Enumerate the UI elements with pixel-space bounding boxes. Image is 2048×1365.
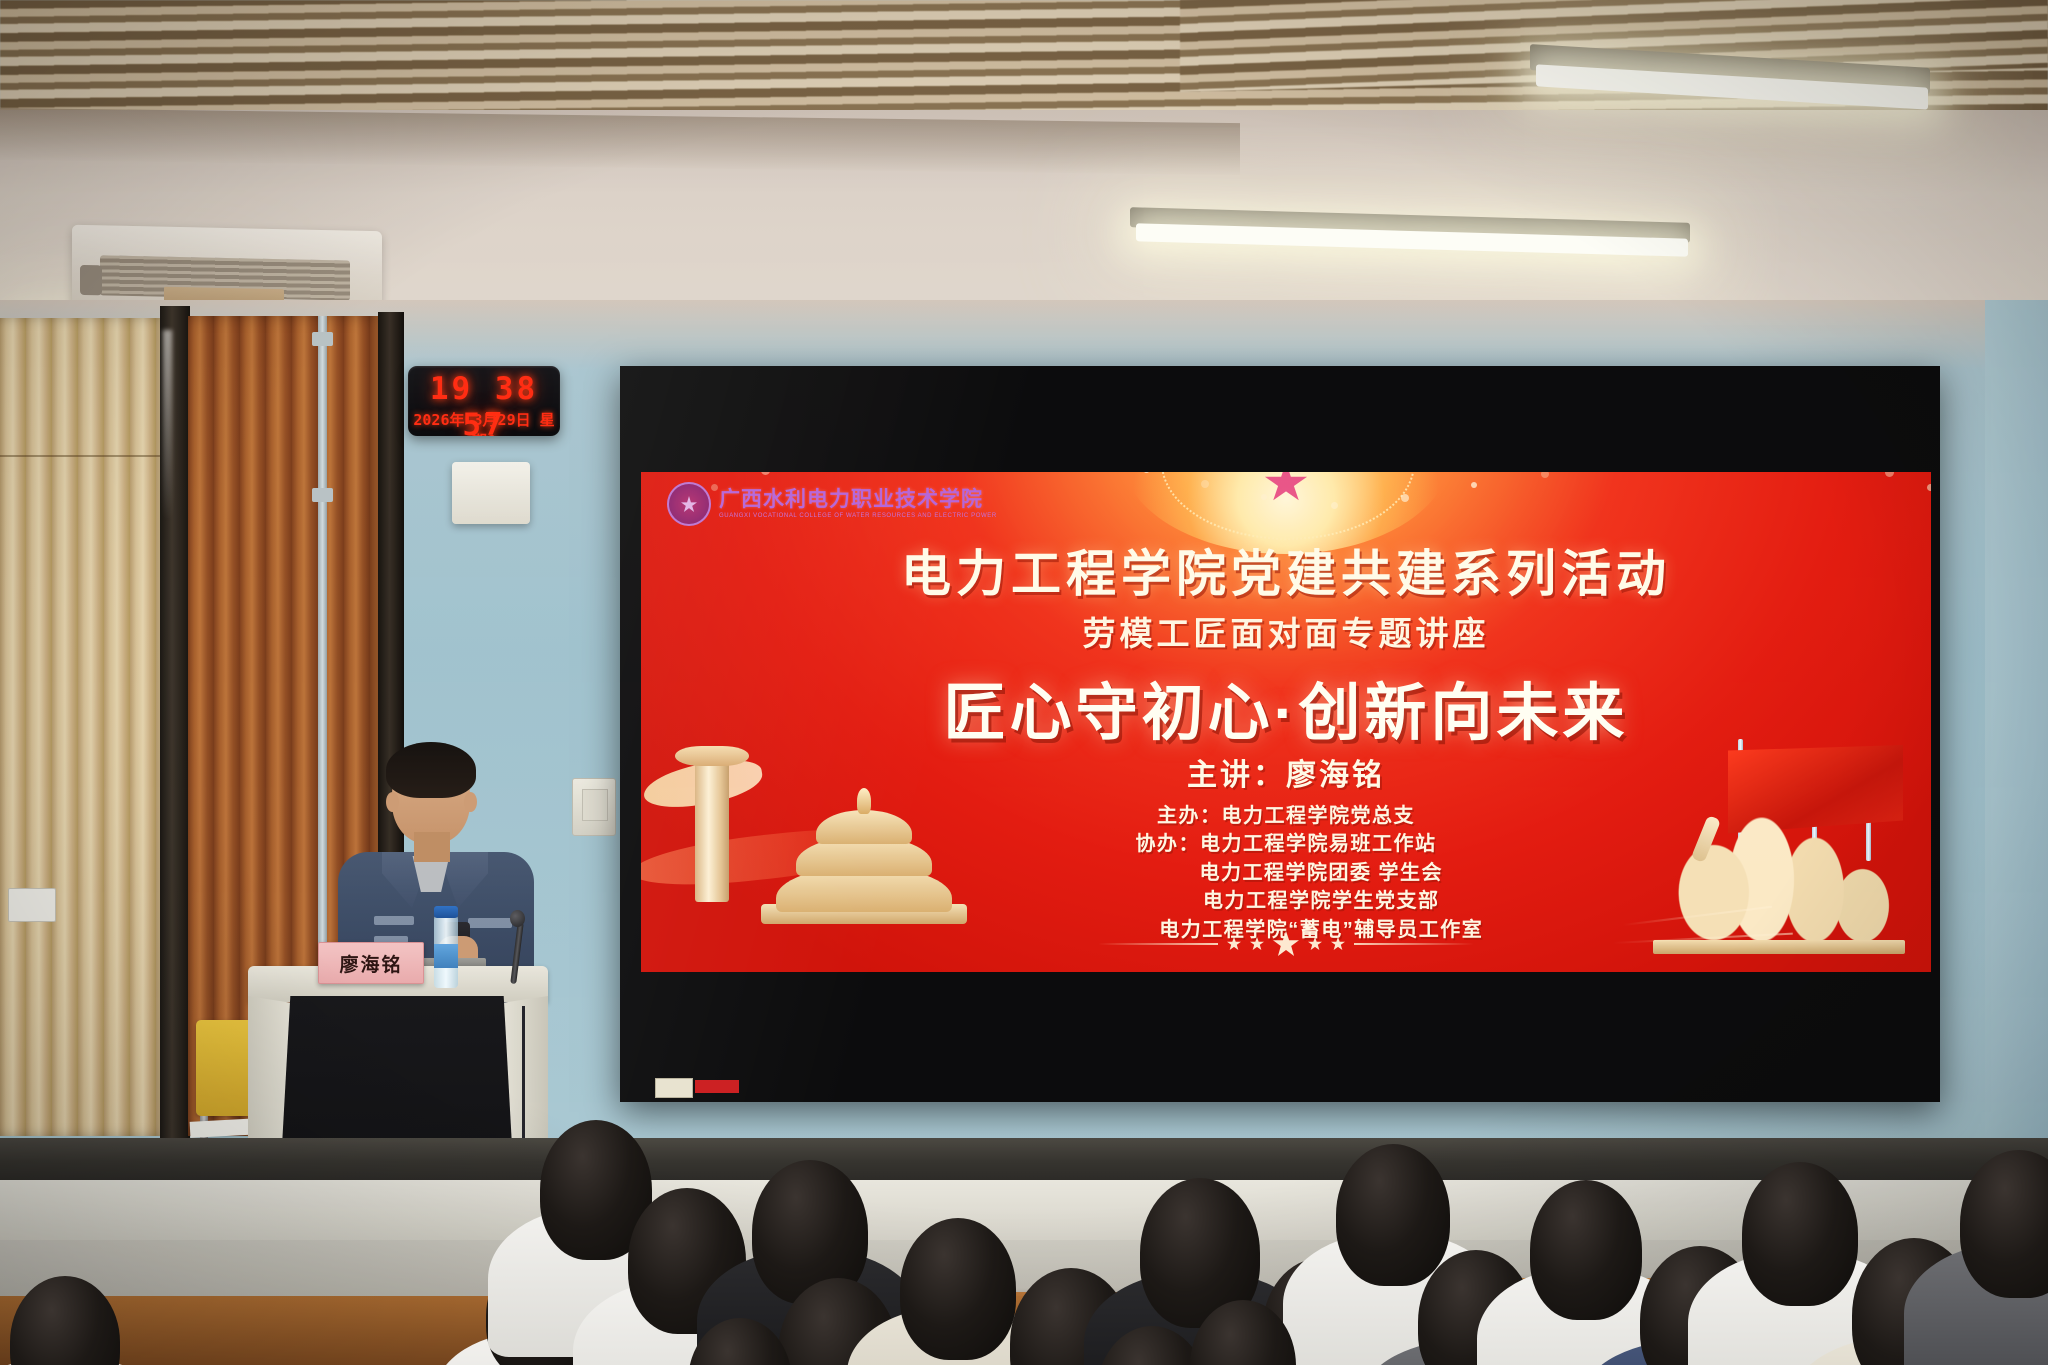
slide-organizer-line: 电力工程学院学生党支部 xyxy=(1132,887,1439,915)
slide-burst-dot xyxy=(1401,494,1409,502)
slide-organizer-line: 协办：电力工程学院易班工作站 xyxy=(1136,830,1437,858)
slide-burst-dot xyxy=(1471,482,1477,488)
slide-organizer-line: 电力工程学院团委 学生会 xyxy=(1129,859,1443,887)
slide-speaker: 主讲：廖海铭 xyxy=(641,750,1931,794)
wood-panel-seam xyxy=(0,455,168,457)
star-icon-small-1 xyxy=(1227,937,1241,950)
slide-burst-dot xyxy=(1143,472,1150,473)
audience-member-head xyxy=(900,1218,1016,1360)
star-icon-large xyxy=(1273,931,1299,956)
wall-switch-plate[interactable] xyxy=(572,778,616,836)
conduit-clamp-mid xyxy=(312,488,333,502)
slide-burst-dot xyxy=(761,472,770,475)
slide-burst-dot xyxy=(1927,484,1931,491)
uniform-badge-left xyxy=(374,916,414,925)
school-logo: 广西水利电力职业技术学院 GUANGXI VOCATIONAL COLLEGE … xyxy=(667,482,997,526)
presentation-slide: 广西水利电力职业技术学院 GUANGXI VOCATIONAL COLLEGE … xyxy=(641,472,1931,972)
lecture-hall-photo: 19 38 57 2026年 3月29日 星期8 广西水利电力职业技术学院 GU… xyxy=(0,0,2048,1365)
wall-switch[interactable] xyxy=(582,789,608,821)
speaker-name-plate-text: 廖海铭 xyxy=(339,950,402,977)
wall-trim-highlight xyxy=(163,330,172,520)
wall-wainscot-band xyxy=(0,1138,2048,1182)
water-bottle-cap xyxy=(434,906,458,918)
slide-main-title: 匠心守初心·创新向未来 xyxy=(641,662,1931,752)
school-name-cn: 广西水利电力职业技术学院 xyxy=(719,489,997,510)
water-bottle-label xyxy=(434,944,458,968)
star-icon-small-4 xyxy=(1331,937,1345,950)
slide-burst-dot xyxy=(1331,502,1338,509)
screen-info-label xyxy=(655,1078,693,1098)
audience-member-head xyxy=(1742,1162,1858,1306)
left-wall-light-wood-panel xyxy=(0,318,168,1136)
ac-sensor xyxy=(80,265,102,295)
uniform-badge-right xyxy=(468,918,512,928)
ceiling-conduit-pipe xyxy=(318,316,327,956)
divider-bar-left xyxy=(1098,943,1218,945)
school-name-en: GUANGXI VOCATIONAL COLLEGE OF WATER RESO… xyxy=(719,513,997,519)
presenter-neck xyxy=(414,832,450,862)
wall-speaker-box xyxy=(452,462,530,524)
speaker-name-plate: 廖海铭 xyxy=(318,942,424,984)
clock-date-readout: 2026年 3月29日 星期8 xyxy=(408,409,560,436)
digital-wall-clock: 19 38 57 2026年 3月29日 星期8 xyxy=(408,366,560,436)
school-emblem-icon xyxy=(667,482,711,526)
microphone-head xyxy=(510,910,525,927)
right-wall-edge xyxy=(1985,300,2048,1180)
wall-outlet-plate[interactable] xyxy=(8,888,56,922)
slide-heading: 电力工程学院党建共建系列活动 xyxy=(641,534,1931,606)
star-icon-small-3 xyxy=(1308,937,1322,950)
divider-bar-right xyxy=(1354,943,1474,945)
audience-member-head xyxy=(1336,1144,1450,1286)
slide-burst-dot xyxy=(1261,494,1267,500)
star-icon-small-2 xyxy=(1250,937,1264,950)
wall-baseboard xyxy=(0,1180,2048,1242)
slide-burst-dot xyxy=(1201,480,1209,488)
conduit-clamp-top xyxy=(312,332,333,346)
presenter-ear-right xyxy=(464,792,477,812)
slide-subheading: 劳模工匠面对面专题讲座 xyxy=(641,607,1931,655)
slide-burst-dot xyxy=(1885,472,1894,477)
audience-member-head xyxy=(1530,1180,1642,1320)
presenter-ear-left xyxy=(386,792,399,812)
slide-burst-dot xyxy=(1541,472,1549,478)
screen-red-sticker xyxy=(695,1080,739,1093)
slide-organizer-list: 主办：电力工程学院党总支协办：电力工程学院易班工作站 电力工程学院团委 学生会 … xyxy=(641,802,1931,944)
slide-star-divider xyxy=(1098,931,1474,956)
slide-organizer-line: 主办：电力工程学院党总支 xyxy=(1157,802,1415,830)
presenter-hair xyxy=(386,742,476,798)
